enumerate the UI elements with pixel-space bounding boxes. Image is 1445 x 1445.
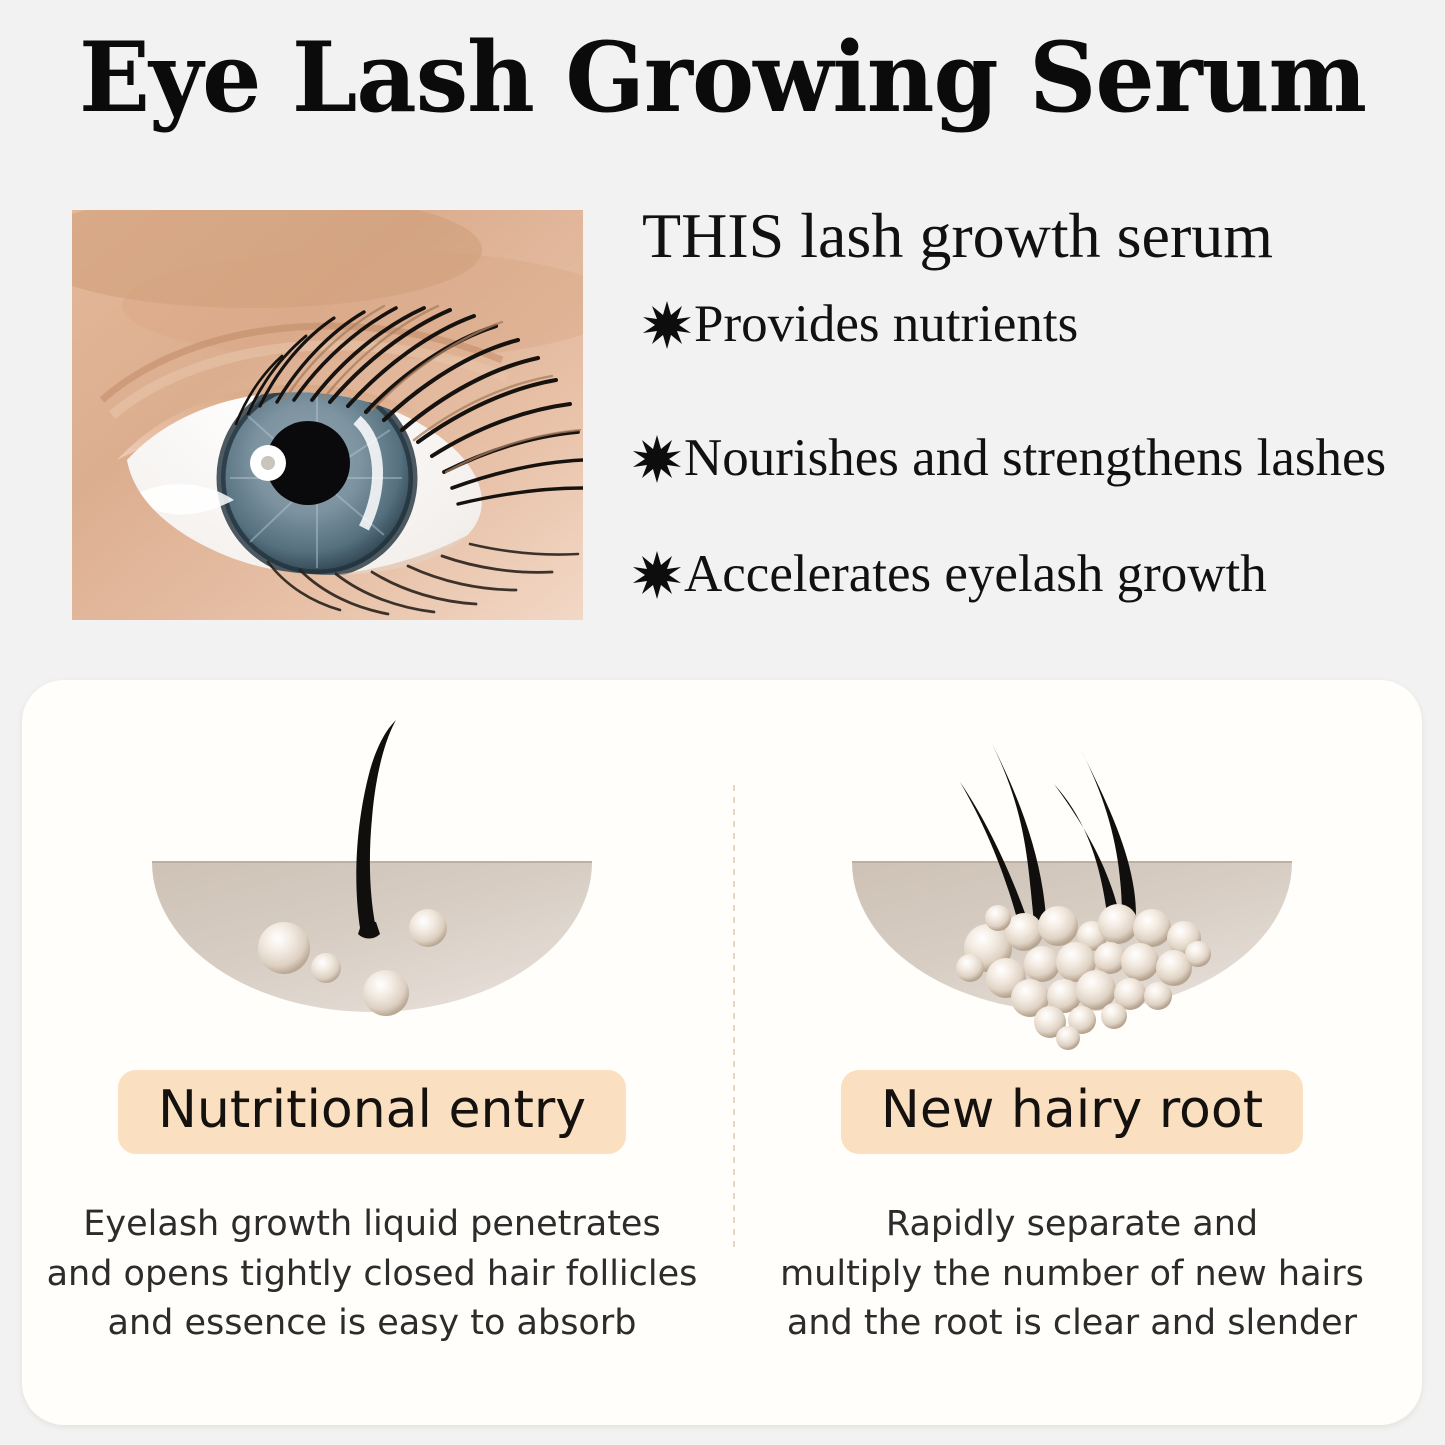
- panel-label-nutritional-entry: Nutritional entry: [118, 1070, 626, 1154]
- benefits-heading: THIS lash growth serum: [642, 204, 1273, 268]
- panel-nutritional-entry: Nutritional entry Eyelash growth liquid …: [22, 680, 722, 1425]
- desc-line: Eyelash growth liquid penetrates: [42, 1200, 702, 1250]
- page-title: Eye Lash Growing Serum: [22, 28, 1424, 129]
- panel-label-new-hairy-root: New hairy root: [841, 1070, 1303, 1154]
- desc-line: multiply the number of new hairs: [762, 1250, 1382, 1300]
- panel-description-new-hairy-root: Rapidly separate and multiply the number…: [762, 1200, 1382, 1349]
- eye-closeup-photo: [72, 210, 583, 620]
- benefit-label: Provides nutrients: [694, 298, 1078, 351]
- desc-line: and essence is easy to absorb: [42, 1299, 702, 1349]
- starburst-icon: [632, 550, 682, 600]
- benefits-block: THIS lash growth serum Provides nutrient…: [600, 200, 1445, 640]
- multiple-hair-follicle-diagram: [792, 710, 1352, 1060]
- hero-section: THIS lash growth serum Provides nutrient…: [0, 200, 1445, 640]
- benefit-label: Nourishes and strengthens lashes: [684, 432, 1386, 485]
- desc-line: Rapidly separate and: [762, 1200, 1382, 1250]
- benefit-item-1: Provides nutrients: [642, 298, 1078, 351]
- benefit-item-2: Nourishes and strengthens lashes: [632, 432, 1386, 485]
- desc-line: and the root is clear and slender: [762, 1299, 1382, 1349]
- mechanism-card: Nutritional entry Eyelash growth liquid …: [22, 680, 1422, 1425]
- single-hair-follicle-diagram: [92, 710, 652, 1060]
- benefit-label: Accelerates eyelash growth: [684, 548, 1267, 601]
- starburst-icon: [632, 434, 682, 484]
- desc-line: and opens tightly closed hair follicles: [42, 1250, 702, 1300]
- panel-description-nutritional-entry: Eyelash growth liquid penetrates and ope…: [42, 1200, 702, 1349]
- starburst-icon: [642, 300, 692, 350]
- panel-new-hairy-root: New hairy root Rapidly separate and mult…: [722, 680, 1422, 1425]
- benefit-item-3: Accelerates eyelash growth: [632, 548, 1267, 601]
